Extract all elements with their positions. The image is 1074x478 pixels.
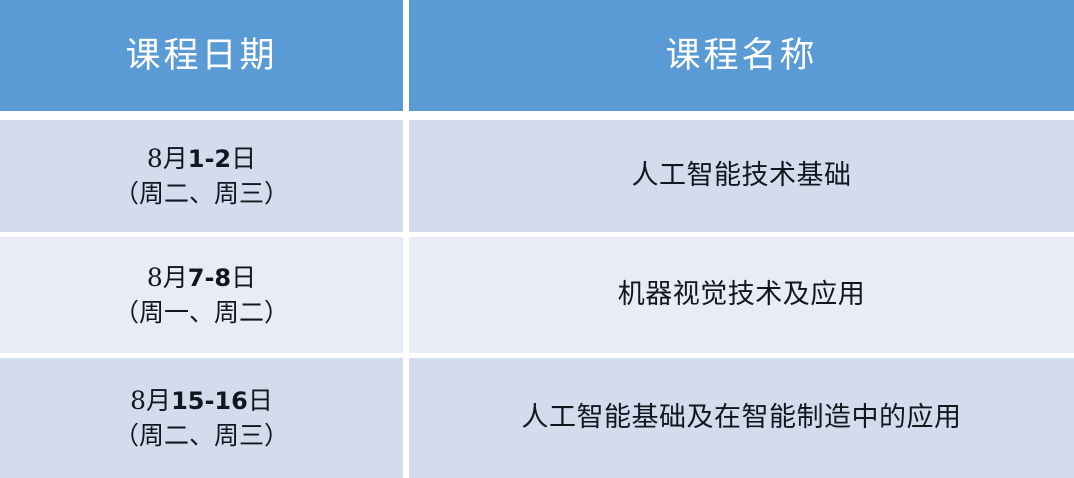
column-header-course-name: 课程名称 [409, 0, 1074, 111]
date-day-number: 15-16 [171, 387, 248, 415]
date-primary-line: 8月15-16日 [8, 383, 395, 419]
date-day-suffix: 日 [231, 263, 256, 292]
course-name-text: 人工智能技术基础 [417, 157, 1066, 195]
date-primary-line: 8月7-8日 [8, 260, 395, 296]
date-month-prefix: 8月 [147, 263, 188, 292]
cell-course-date: 8月7-8日 （周一、周二） [0, 237, 403, 353]
date-day-number: 1-2 [188, 145, 231, 173]
course-name-text: 人工智能基础及在智能制造中的应用 [417, 399, 1066, 437]
cell-course-date: 8月1-2日 （周二、周三） [0, 120, 403, 232]
date-primary-line: 8月1-2日 [8, 141, 395, 177]
header-body-divider [0, 111, 1074, 120]
cell-course-name: 人工智能基础及在智能制造中的应用 [409, 358, 1074, 478]
divider-segment-left [0, 111, 403, 120]
date-day-suffix: 日 [231, 144, 256, 173]
course-name-text: 机器视觉技术及应用 [417, 276, 1066, 314]
date-weekday-line: （周一、周二） [8, 295, 395, 331]
table-body: 8月1-2日 （周二、周三） 人工智能技术基础 8月7-8日 （周一、周二） 机… [0, 111, 1074, 478]
divider-segment-right [409, 111, 1074, 120]
course-schedule-table: 课程日期 课程名称 8月1-2日 （周二、周三） 人工智能技术基础 [0, 0, 1074, 478]
cell-course-name: 人工智能技术基础 [409, 120, 1074, 232]
date-day-number: 7-8 [188, 264, 231, 292]
header-row: 课程日期 课程名称 [0, 0, 1074, 111]
table-row: 8月15-16日 （周二、周三） 人工智能基础及在智能制造中的应用 [0, 358, 1074, 478]
date-month-prefix: 8月 [147, 144, 188, 173]
date-weekday-line: （周二、周三） [8, 176, 395, 212]
cell-course-name: 机器视觉技术及应用 [409, 237, 1074, 353]
date-month-prefix: 8月 [130, 386, 171, 415]
column-header-course-date: 课程日期 [0, 0, 403, 111]
date-day-suffix: 日 [248, 386, 273, 415]
date-weekday-line: （周二、周三） [8, 418, 395, 454]
cell-course-date: 8月15-16日 （周二、周三） [0, 358, 403, 478]
table-row: 8月7-8日 （周一、周二） 机器视觉技术及应用 [0, 237, 1074, 353]
table-row: 8月1-2日 （周二、周三） 人工智能技术基础 [0, 120, 1074, 232]
table-header: 课程日期 课程名称 [0, 0, 1074, 111]
